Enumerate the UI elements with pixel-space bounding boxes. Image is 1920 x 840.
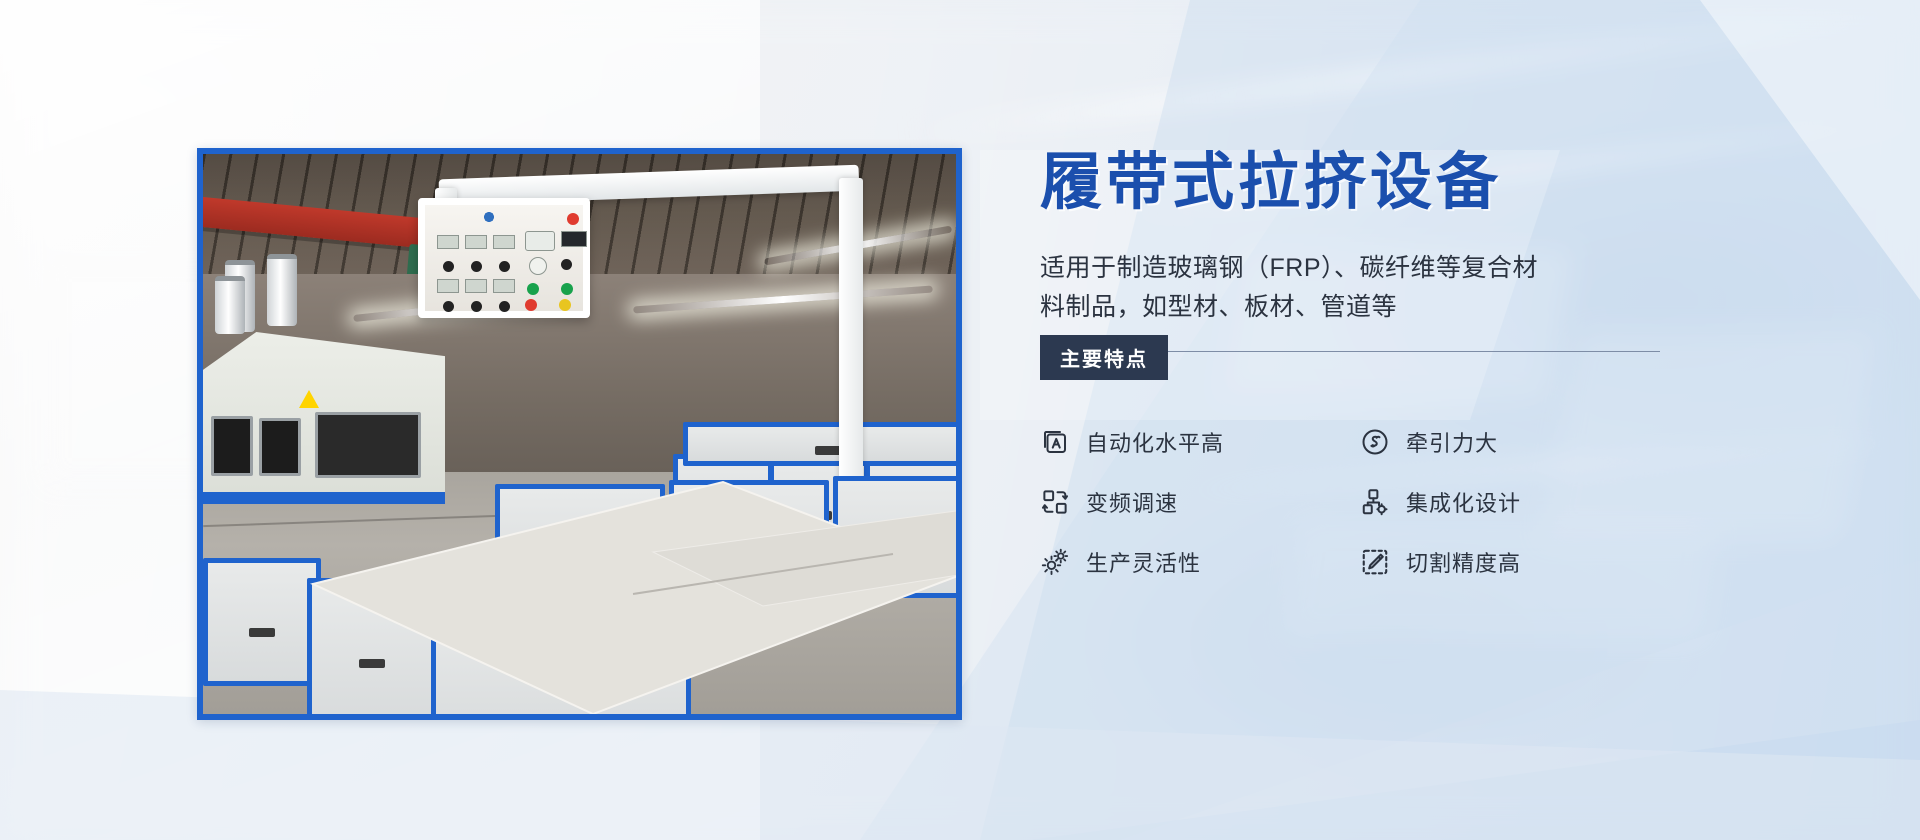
page-title: 履带式拉挤设备 <box>1040 150 1680 215</box>
frequency-swap-icon <box>1040 487 1070 517</box>
precision-pen-icon <box>1360 547 1390 577</box>
feature-label: 自动化水平高 <box>1086 426 1224 458</box>
product-description-line: 料制品，如型材、板材、管道等 <box>1040 288 1660 327</box>
feature-item-automation[interactable]: 自动化水平高 <box>1040 426 1360 458</box>
status-badge: 主要特点 <box>1040 335 1168 380</box>
feature-item-flexibility[interactable]: 生产灵活性 <box>1040 546 1360 578</box>
feature-label: 生产灵活性 <box>1086 546 1201 578</box>
gears-icon <box>1040 547 1070 577</box>
speed-ss-circle-icon <box>1360 427 1390 457</box>
feature-list: 自动化水平高 牵引力大 <box>1040 412 1680 592</box>
feature-item-frequency[interactable]: 变频调速 <box>1040 486 1360 518</box>
feature-label: 集成化设计 <box>1406 486 1521 518</box>
photo-conveyor-table <box>203 154 956 714</box>
feature-item-traction[interactable]: 牵引力大 <box>1360 426 1680 458</box>
feature-label: 牵引力大 <box>1406 426 1498 458</box>
feature-label: 变频调速 <box>1086 486 1178 518</box>
product-description-line: 适用于制造玻璃钢（FRP）、碳纤维等复合材 <box>1040 249 1660 288</box>
sitemap-gear-icon <box>1360 487 1390 517</box>
product-description: 适用于制造玻璃钢（FRP）、碳纤维等复合材 料制品，如型材、板材、管道等 <box>1040 249 1660 327</box>
auto-letter-a-icon <box>1040 427 1070 457</box>
feature-item-cutting-precision[interactable]: 切割精度高 <box>1360 546 1680 578</box>
product-photo-card[interactable] <box>197 148 962 720</box>
product-photo <box>203 154 956 714</box>
feature-item-integration[interactable]: 集成化设计 <box>1360 486 1680 518</box>
feature-label: 切割精度高 <box>1406 546 1521 578</box>
product-banner: 履带式拉挤设备 适用于制造玻璃钢（FRP）、碳纤维等复合材 料制品，如型材、板材… <box>0 0 1920 840</box>
banner-content: 履带式拉挤设备 适用于制造玻璃钢（FRP）、碳纤维等复合材 料制品，如型材、板材… <box>1040 150 1680 592</box>
